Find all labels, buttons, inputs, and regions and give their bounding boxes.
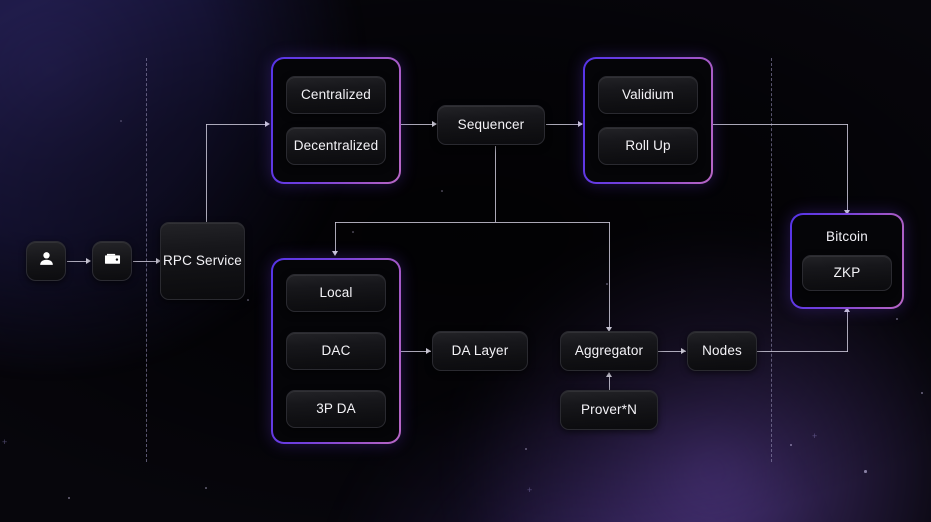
divider-right bbox=[771, 58, 772, 462]
wallet-icon bbox=[103, 249, 122, 273]
connector-user-to-wallet bbox=[67, 261, 87, 262]
connector-sequencer-to-rollupgroup bbox=[546, 124, 582, 125]
group-item-3p-da-label: 3P DA bbox=[316, 400, 356, 417]
connector-bus bbox=[335, 222, 610, 223]
group-item-validium-label: Validium bbox=[622, 86, 674, 103]
node-da-layer-label: DA Layer bbox=[452, 342, 509, 359]
group-bitcoin: Bitcoin ZKP bbox=[790, 213, 904, 309]
connector-rpc-up bbox=[206, 124, 207, 225]
group-item-local-label: Local bbox=[319, 284, 352, 301]
node-sequencer[interactable]: Sequencer bbox=[437, 105, 545, 145]
node-sequencer-label: Sequencer bbox=[458, 116, 525, 133]
wallet-actor[interactable] bbox=[92, 241, 132, 281]
group-item-zkp-label: ZKP bbox=[834, 264, 861, 281]
diagram-canvas: + + + + bbox=[0, 0, 931, 522]
group-item-zkp[interactable]: ZKP bbox=[802, 255, 892, 291]
divider-left bbox=[146, 58, 147, 462]
group-item-3p-da[interactable]: 3P DA bbox=[286, 390, 386, 428]
group-item-centralized-label: Centralized bbox=[301, 86, 371, 103]
node-da-layer[interactable]: DA Layer bbox=[432, 331, 528, 371]
node-rpc-service[interactable]: RPC Service bbox=[160, 222, 245, 300]
arrowhead-dagroup-to-dalayer bbox=[426, 348, 431, 354]
user-icon bbox=[37, 249, 56, 273]
node-rpc-service-label: RPC Service bbox=[163, 252, 242, 269]
node-nodes[interactable]: Nodes bbox=[687, 331, 757, 371]
connector-nodes-up-bitcoin bbox=[847, 309, 848, 352]
group-bitcoin-title: Bitcoin bbox=[826, 229, 868, 244]
group-item-decentralized-label: Decentralized bbox=[294, 137, 379, 154]
group-item-dac[interactable]: DAC bbox=[286, 332, 386, 370]
arrowhead-rpc-to-seqgroup bbox=[265, 121, 270, 127]
group-item-rollup[interactable]: Roll Up bbox=[598, 127, 698, 165]
group-data-availability: Local DAC 3P DA bbox=[271, 258, 401, 444]
arrowhead-prover-to-aggregator bbox=[606, 372, 612, 377]
node-prover-label: Prover*N bbox=[581, 401, 637, 418]
arrowhead-user-to-wallet bbox=[86, 258, 91, 264]
node-aggregator[interactable]: Aggregator bbox=[560, 331, 658, 371]
connector-nodes-to-bitcoin bbox=[757, 351, 848, 352]
arrowhead-aggregator-to-nodes bbox=[681, 348, 686, 354]
connector-rpc-to-seqgroup bbox=[206, 124, 268, 125]
connector-wallet-to-rpc bbox=[133, 261, 158, 262]
node-nodes-label: Nodes bbox=[702, 342, 742, 359]
group-rollup-type: Validium Roll Up bbox=[583, 57, 713, 184]
arrowhead-bus-to-dagroup bbox=[332, 251, 338, 256]
connector-bus-to-aggregator bbox=[609, 222, 610, 330]
connector-sequencer-down bbox=[495, 146, 496, 222]
connector-rollupgroup-down-bitcoin bbox=[847, 124, 848, 213]
connector-bus-to-dagroup bbox=[335, 222, 336, 254]
group-item-dac-label: DAC bbox=[322, 342, 351, 359]
group-item-validium[interactable]: Validium bbox=[598, 76, 698, 114]
node-prover[interactable]: Prover*N bbox=[560, 390, 658, 430]
connector-rollupgroup-to-bitcoin bbox=[713, 124, 848, 125]
connector-seqgroup-to-sequencer bbox=[401, 124, 436, 125]
node-aggregator-label: Aggregator bbox=[575, 342, 643, 359]
group-item-local[interactable]: Local bbox=[286, 274, 386, 312]
user-actor[interactable] bbox=[26, 241, 66, 281]
group-item-centralized[interactable]: Centralized bbox=[286, 76, 386, 114]
group-item-rollup-label: Roll Up bbox=[625, 137, 670, 154]
group-item-decentralized[interactable]: Decentralized bbox=[286, 127, 386, 165]
group-sequencer-type: Centralized Decentralized bbox=[271, 57, 401, 184]
